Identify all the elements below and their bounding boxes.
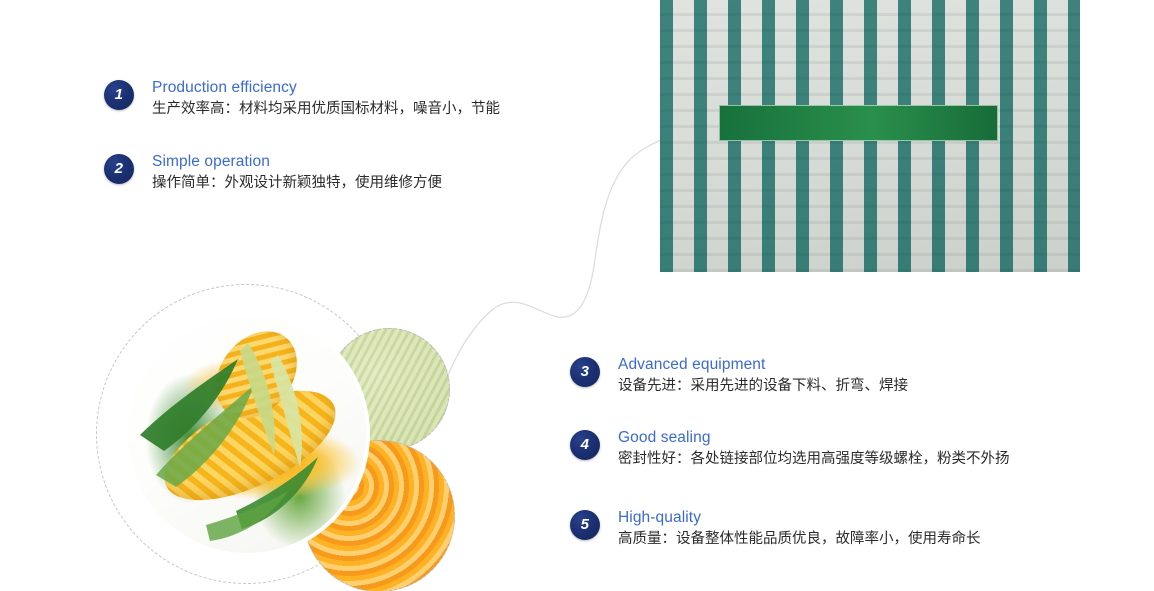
- feature-badge-1: 1: [104, 80, 134, 110]
- feature-description-3: 设备先进：采用先进的设备下料、折弯、焊接: [618, 376, 908, 397]
- feature-badge-4: 4: [570, 430, 600, 460]
- feature-item-1[interactable]: 1 Production efficiency 生产效率高：材料均采用优质国标材…: [104, 78, 500, 120]
- feature-description-2: 操作简单：外观设计新颖独特，使用维修方便: [152, 173, 442, 194]
- corn-photo-cluster: [96, 282, 496, 591]
- feature-item-4[interactable]: 4 Good sealing 密封性好：各处链接部位均选用高强度等级螺栓，粉类不…: [570, 428, 1010, 470]
- feature-text-2: Simple operation 操作简单：外观设计新颖独特，使用维修方便: [152, 152, 442, 194]
- feature-text-5: High-quality 高质量：设备整体性能品质优良，故障率小，使用寿命长: [618, 508, 981, 550]
- feature-badge-2: 2: [104, 154, 134, 184]
- teal-milling-equipment-photo-inner: [667, 0, 795, 97]
- feature-title-2: Simple operation: [152, 152, 442, 171]
- corn-cob-with-husk-photo: [128, 315, 366, 553]
- feature-badge-5: 5: [570, 510, 600, 540]
- machinery-photo-cluster: [660, 0, 1080, 272]
- teal-milling-equipment-photo: [660, 0, 802, 104]
- feature-title-1: Production efficiency: [152, 78, 500, 97]
- feature-description-5: 高质量：设备整体性能品质优良，故障率小，使用寿命长: [618, 529, 981, 550]
- feature-item-3[interactable]: 3 Advanced equipment 设备先进：采用先进的设备下料、折弯、焊…: [570, 355, 908, 397]
- feature-description-4: 密封性好：各处链接部位均选用高强度等级螺栓，粉类不外扬: [618, 449, 1010, 470]
- feature-text-3: Advanced equipment 设备先进：采用先进的设备下料、折弯、焊接: [618, 355, 908, 397]
- feature-item-5[interactable]: 5 High-quality 高质量：设备整体性能品质优良，故障率小，使用寿命长: [570, 508, 981, 550]
- feature-text-4: Good sealing 密封性好：各处链接部位均选用高强度等级螺栓，粉类不外扬: [618, 428, 1010, 470]
- mill-photo-small-fill: [667, 0, 795, 97]
- feature-description-1: 生产效率高：材料均采用优质国标材料，噪音小，节能: [152, 99, 500, 120]
- corn-husk-leaves: [128, 315, 366, 553]
- feature-item-2[interactable]: 2 Simple operation 操作简单：外观设计新颖独特，使用维修方便: [104, 152, 442, 194]
- infographic-canvas: 1 Production efficiency 生产效率高：材料均采用优质国标材…: [0, 0, 1154, 591]
- feature-title-4: Good sealing: [618, 428, 1010, 447]
- feature-text-1: Production efficiency 生产效率高：材料均采用优质国标材料，…: [152, 78, 500, 120]
- feature-title-3: Advanced equipment: [618, 355, 908, 374]
- feature-title-5: High-quality: [618, 508, 981, 527]
- feature-badge-3: 3: [570, 357, 600, 387]
